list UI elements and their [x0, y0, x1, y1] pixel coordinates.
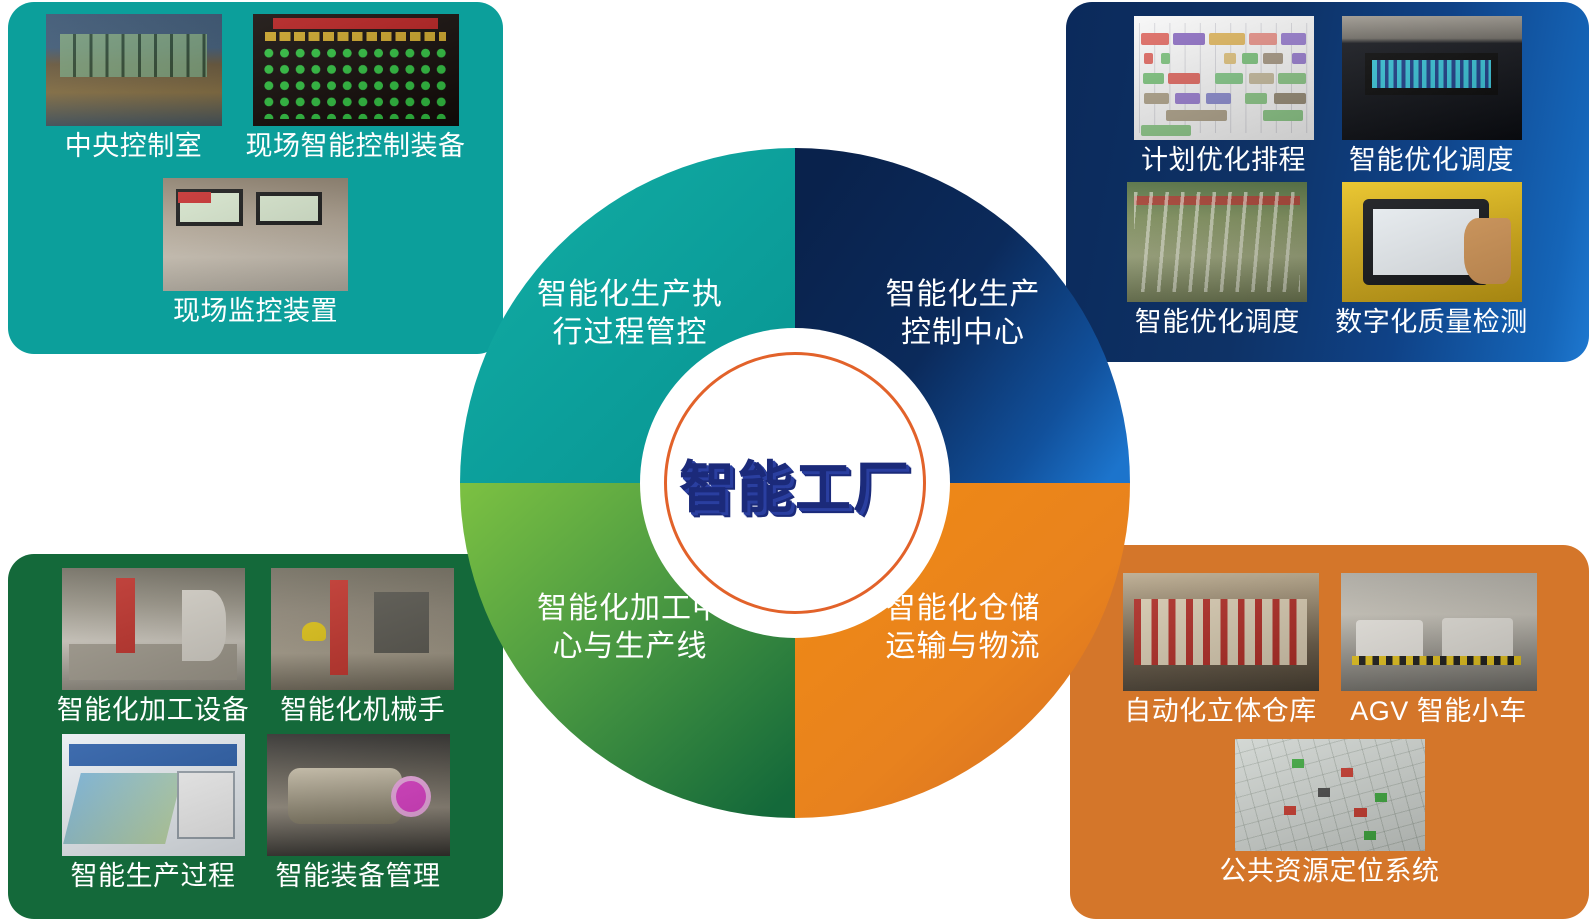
panel-item-caption: 数字化质量检测	[1335, 307, 1528, 338]
panel-item-caption: 智能装备管理	[276, 861, 441, 892]
panel-production-control-center: 计划优化排程 智能优化调度 智能优化调度	[1066, 2, 1589, 362]
panel-item-caption: 智能优化调度	[1135, 307, 1300, 338]
tablet-quality-inspection-photo	[1342, 182, 1522, 302]
page-title: 智能工厂	[679, 443, 911, 524]
panel-item-caption: 智能化机械手	[280, 695, 445, 726]
central-control-room-photo	[46, 14, 222, 126]
onsite-led-control-board-photo	[253, 14, 459, 126]
panel-item: AGV 智能小车	[1341, 573, 1537, 727]
panel-item: 智能化机械手	[271, 568, 454, 726]
center-hub: 智能工厂	[640, 328, 950, 638]
panel-item: 现场智能控制装备	[246, 14, 466, 162]
automated-asrs-warehouse-photo	[1123, 573, 1319, 691]
panel-item-caption: 智能化加工设备	[57, 695, 250, 726]
panel-item-caption: 现场智能控制装备	[246, 131, 466, 162]
panel-warehouse-logistics: 自动化立体仓库 AGV 智能小车	[1070, 545, 1589, 919]
public-resource-positioning-map	[1235, 739, 1425, 851]
panel-item: 智能化加工设备	[57, 568, 250, 726]
gantt-schedule-chart	[1134, 16, 1314, 140]
panel-item: 自动化立体仓库	[1123, 573, 1319, 727]
panel-item-caption: 智能生产过程	[71, 861, 236, 892]
big-screen-dispatch-board-photo	[1342, 16, 1522, 140]
panel-item: 智能装备管理	[267, 734, 450, 892]
smart-factory-diagram: 中央控制室 现场智能控制装备 现场监控装置	[0, 0, 1591, 921]
smart-machining-equipment-photo	[62, 568, 245, 690]
panel-item-caption: AGV 智能小车	[1350, 696, 1527, 727]
panel-item: 中央控制室	[46, 14, 222, 162]
panel-item-caption: 智能优化调度	[1349, 145, 1514, 176]
panel-item-caption: 公共资源定位系统	[1220, 856, 1440, 887]
panel-production-execution: 中央控制室 现场智能控制装备 现场监控装置	[8, 2, 503, 354]
panel-item-caption: 中央控制室	[65, 131, 203, 162]
panel-machining-center: 智能化加工设备 智能化机械手 智能生产过程	[8, 554, 503, 919]
scada-production-process-screen	[62, 734, 245, 856]
panel-item-caption: 计划优化排程	[1141, 145, 1306, 176]
panel-item: 现场监控装置	[163, 178, 348, 327]
panel-item-caption: 自动化立体仓库	[1124, 696, 1317, 727]
panel-item: 计划优化排程	[1134, 16, 1314, 176]
equipment-management-grinding-photo	[267, 734, 450, 856]
plant-overview-photo	[1127, 182, 1307, 302]
panel-item: 智能优化调度	[1342, 16, 1522, 176]
panel-item: 智能优化调度	[1127, 182, 1307, 338]
agv-smart-vehicle-photo	[1341, 573, 1537, 691]
panel-item: 公共资源定位系统	[1220, 739, 1440, 887]
central-circle-diagram: 智能化生产执 行过程管控 智能化生产 控制中心 智能化加工中 心与生产线 智能化…	[460, 148, 1130, 818]
onsite-monitoring-display-photo	[163, 178, 348, 291]
panel-item: 智能生产过程	[62, 734, 245, 892]
panel-item-caption: 现场监控装置	[173, 296, 338, 327]
smart-robot-arm-photo	[271, 568, 454, 690]
panel-item: 数字化质量检测	[1335, 182, 1528, 338]
